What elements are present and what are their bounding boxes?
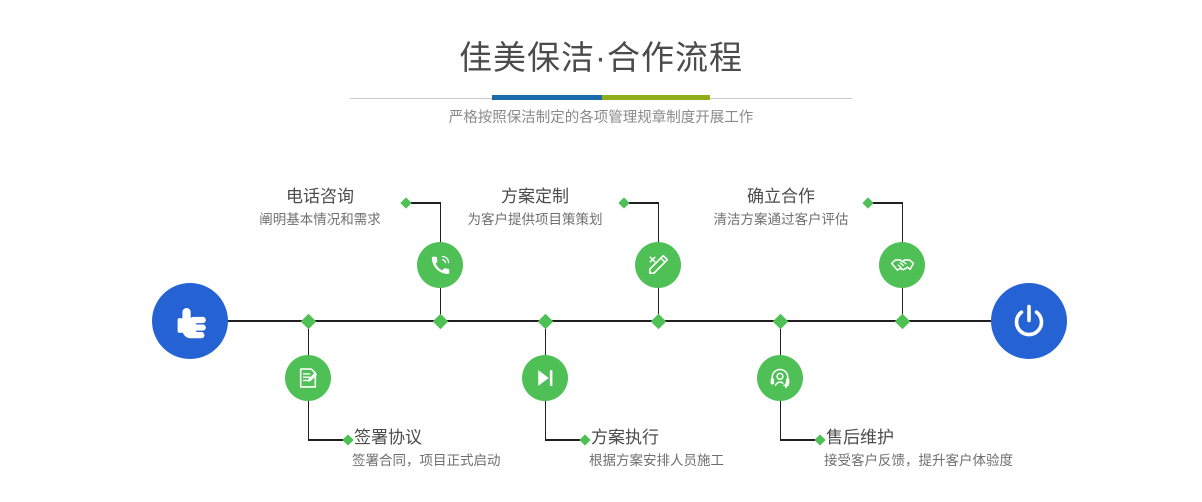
handshake-icon	[889, 252, 916, 279]
step-title-5: 售后维护	[824, 426, 1013, 450]
label-marker-step-1	[400, 197, 411, 208]
power-icon	[1008, 300, 1050, 342]
process-flow: 电话咨询 阐明基本情况和需求 签署协议 签署合同，项目正式启动	[0, 0, 1202, 502]
connector-horizontal-step-5	[780, 439, 818, 441]
step-icon-document-sign[interactable]	[285, 355, 331, 401]
axis-marker-step-4	[537, 313, 553, 329]
step-label-1: 电话咨询 阐明基本情况和需求	[240, 185, 400, 231]
step-desc-5: 接受客户反馈，提升客户体验度	[824, 450, 1013, 472]
connector-horizontal-step-4	[545, 439, 583, 441]
step-label-4: 方案执行 根据方案安排人员施工	[589, 426, 724, 472]
step-icon-phone-call[interactable]	[417, 242, 463, 288]
step-title-6: 确立合作	[700, 185, 862, 209]
step-icon-play-next[interactable]	[522, 355, 568, 401]
step-icon-handshake[interactable]	[879, 242, 925, 288]
flow-end-node[interactable]	[991, 283, 1067, 359]
step-label-2: 签署协议 签署合同，项目正式启动	[352, 426, 501, 472]
step-title-4: 方案执行	[589, 426, 724, 450]
pencil-edit-icon	[645, 252, 671, 278]
step-icon-headset-support[interactable]	[757, 355, 803, 401]
step-title-2: 签署协议	[352, 426, 501, 450]
axis-marker-step-6	[894, 313, 910, 329]
axis-marker-step-1	[432, 313, 448, 329]
pointing-hand-icon	[168, 299, 212, 343]
label-marker-step-6	[862, 197, 873, 208]
step-icon-pencil-edit[interactable]	[635, 242, 681, 288]
step-desc-3: 为客户提供项目策策划	[452, 209, 618, 231]
step-label-6: 确立合作 清洁方案通过客户评估	[700, 185, 862, 231]
phone-call-icon	[427, 252, 453, 278]
step-title-1: 电话咨询	[240, 185, 400, 209]
axis-marker-step-3	[650, 313, 666, 329]
step-desc-1: 阐明基本情况和需求	[240, 209, 400, 231]
flow-infographic: 佳美保洁·合作流程 严格按照保洁制定的各项管理规章制度开展工作	[0, 0, 1202, 502]
label-marker-step-3	[618, 197, 629, 208]
step-desc-6: 清洁方案通过客户评估	[700, 209, 862, 231]
step-desc-4: 根据方案安排人员施工	[589, 450, 724, 472]
document-sign-icon	[295, 365, 321, 391]
step-label-5: 售后维护 接受客户反馈，提升客户体验度	[824, 426, 1013, 472]
step-title-3: 方案定制	[452, 185, 618, 209]
connector-horizontal-step-2	[308, 439, 346, 441]
axis-marker-step-2	[300, 313, 316, 329]
step-desc-2: 签署合同，项目正式启动	[352, 450, 501, 472]
play-next-icon	[533, 366, 557, 390]
flow-start-node[interactable]	[152, 283, 228, 359]
headset-support-icon	[767, 365, 793, 391]
step-label-3: 方案定制 为客户提供项目策策划	[452, 185, 618, 231]
axis-marker-step-5	[772, 313, 788, 329]
